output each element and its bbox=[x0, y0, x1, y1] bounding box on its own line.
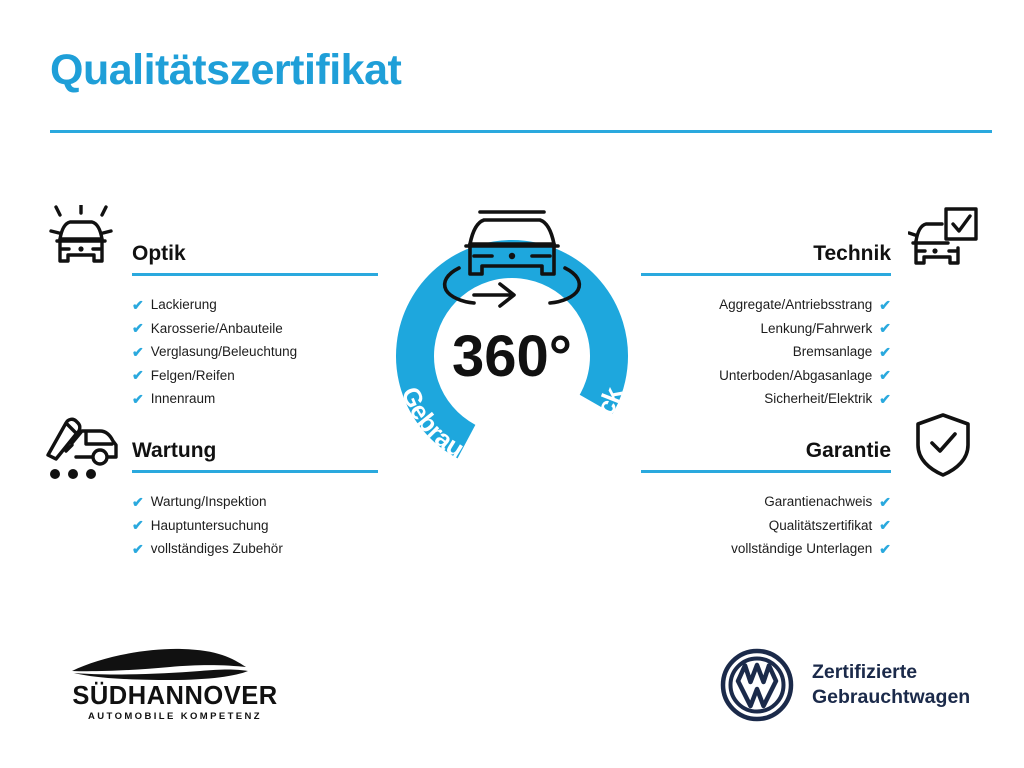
check-icon: ✔ bbox=[132, 368, 144, 382]
list-item-label: Felgen/Reifen bbox=[151, 364, 235, 388]
section-divider bbox=[641, 273, 891, 276]
car-checkbox-icon bbox=[908, 203, 978, 278]
vw-certified-label: Zertifizierte Gebrauchtwagen bbox=[812, 660, 970, 710]
title-divider bbox=[50, 130, 992, 133]
badge-360-gebrauchtwagen-check: 360° Gebrauchtwagen-Check bbox=[374, 196, 650, 496]
dealer-name: SÜDHANNOVER bbox=[72, 681, 277, 710]
list-item-label: Verglasung/Beleuchtung bbox=[151, 340, 297, 364]
check-icon: ✔ bbox=[879, 368, 891, 382]
list-item: Sicherheit/Elektrik✔ bbox=[641, 387, 891, 411]
list-item: ✔Felgen/Reifen bbox=[132, 364, 378, 388]
section-heading: Garantie bbox=[641, 440, 891, 461]
check-icon: ✔ bbox=[132, 298, 144, 312]
list-item: Bremsanlage✔ bbox=[641, 340, 891, 364]
list-item: ✔vollständiges Zubehör bbox=[132, 537, 378, 561]
list-item: Qualitätszertifikat✔ bbox=[641, 514, 891, 538]
check-icon: ✔ bbox=[132, 392, 144, 406]
list-item: Aggregate/Antriebsstrang✔ bbox=[641, 293, 891, 317]
list-item: ✔Verglasung/Beleuchtung bbox=[132, 340, 378, 364]
check-icon: ✔ bbox=[879, 392, 891, 406]
list-item-label: Aggregate/Antriebsstrang bbox=[719, 293, 872, 317]
list-item-label: Unterboden/Abgasanlage bbox=[719, 364, 872, 388]
check-icon: ✔ bbox=[879, 345, 891, 359]
list-item: ✔Wartung/Inspektion bbox=[132, 490, 378, 514]
list-item: vollständige Unterlagen✔ bbox=[641, 537, 891, 561]
vw-label-line1: Zertifizierte bbox=[812, 660, 970, 685]
section-heading: Wartung bbox=[132, 440, 378, 461]
list-item-label: Garantienachweis bbox=[764, 490, 872, 514]
vw-certified-logo: Zertifizierte Gebrauchtwagen bbox=[720, 645, 992, 725]
car-service-tools-icon bbox=[42, 415, 120, 486]
car-silhouette-icon bbox=[72, 649, 248, 680]
vw-label-line2: Gebrauchtwagen bbox=[812, 685, 970, 710]
volkswagen-logo-icon bbox=[720, 648, 794, 722]
check-icon: ✔ bbox=[132, 345, 144, 359]
list-item: ✔Karosserie/Anbauteile bbox=[132, 317, 378, 341]
list-item-label: Hauptuntersuchung bbox=[151, 514, 269, 538]
checklist: Garantienachweis✔ Qualitätszertifikat✔ v… bbox=[641, 490, 891, 561]
list-item-label: Wartung/Inspektion bbox=[151, 490, 267, 514]
list-item-label: Lackierung bbox=[151, 293, 217, 317]
check-icon: ✔ bbox=[879, 542, 891, 556]
section-heading: Technik bbox=[641, 243, 891, 264]
list-item-label: Karosserie/Anbauteile bbox=[151, 317, 283, 341]
checklist: ✔Wartung/Inspektion ✔Hauptuntersuchung ✔… bbox=[132, 490, 378, 561]
check-icon: ✔ bbox=[879, 321, 891, 335]
list-item-label: vollständige Unterlagen bbox=[731, 537, 872, 561]
page-title: Qualitätszertifikat bbox=[50, 48, 401, 93]
section-divider bbox=[132, 273, 378, 276]
check-icon: ✔ bbox=[879, 298, 891, 312]
list-item-label: Qualitätszertifikat bbox=[769, 514, 873, 538]
list-item: ✔Lackierung bbox=[132, 293, 378, 317]
list-item: Lenkung/Fahrwerk✔ bbox=[641, 317, 891, 341]
list-item-label: vollständiges Zubehör bbox=[151, 537, 283, 561]
check-icon: ✔ bbox=[132, 542, 144, 556]
list-item-label: Bremsanlage bbox=[793, 340, 873, 364]
list-item-label: Lenkung/Fahrwerk bbox=[760, 317, 872, 341]
section-heading: Optik bbox=[132, 243, 378, 264]
list-item: ✔Innenraum bbox=[132, 387, 378, 411]
section-divider bbox=[641, 470, 891, 473]
list-item: Garantienachweis✔ bbox=[641, 490, 891, 514]
section-garantie: Garantie Garantienachweis✔ Qualitätszert… bbox=[641, 440, 891, 561]
list-item: ✔Hauptuntersuchung bbox=[132, 514, 378, 538]
section-technik: Technik Aggregate/Antriebsstrang✔ Lenkun… bbox=[641, 243, 891, 411]
list-item-label: Sicherheit/Elektrik bbox=[764, 387, 872, 411]
section-optik: Optik ✔Lackierung ✔Karosserie/Anbauteile… bbox=[132, 243, 378, 411]
dealer-logo: SÜDHANNOVER AUTOMOBILE KOMPETENZ bbox=[50, 645, 300, 727]
checklist: Aggregate/Antriebsstrang✔ Lenkung/Fahrwe… bbox=[641, 293, 891, 411]
list-item-label: Innenraum bbox=[151, 387, 216, 411]
shield-check-icon bbox=[914, 412, 972, 483]
list-item: Unterboden/Abgasanlage✔ bbox=[641, 364, 891, 388]
badge-center-text: 360° bbox=[452, 324, 572, 389]
dealer-tagline: AUTOMOBILE KOMPETENZ bbox=[88, 711, 262, 722]
car-shine-icon bbox=[44, 205, 118, 280]
check-icon: ✔ bbox=[879, 495, 891, 509]
check-icon: ✔ bbox=[132, 321, 144, 335]
check-icon: ✔ bbox=[132, 518, 144, 532]
check-icon: ✔ bbox=[132, 495, 144, 509]
section-divider bbox=[132, 470, 378, 473]
check-icon: ✔ bbox=[879, 518, 891, 532]
section-wartung: Wartung ✔Wartung/Inspektion ✔Hauptunters… bbox=[132, 440, 378, 561]
checklist: ✔Lackierung ✔Karosserie/Anbauteile ✔Verg… bbox=[132, 293, 378, 411]
